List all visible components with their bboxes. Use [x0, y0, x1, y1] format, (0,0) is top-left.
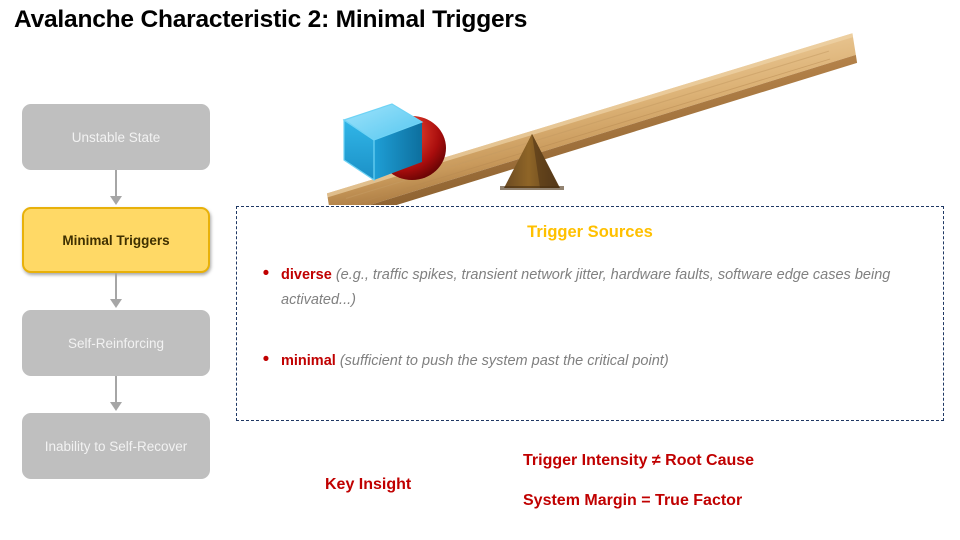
flow-step-label: Self-Reinforcing — [68, 336, 164, 351]
bullet-item-diverse: • diverse (e.g., traffic spikes, transie… — [251, 263, 929, 313]
slide-canvas: Avalanche Characteristic 2: Minimal Trig… — [0, 0, 960, 540]
arrow-head — [110, 402, 122, 411]
flow-step-minimal-triggers[interactable]: Minimal Triggers — [22, 207, 210, 273]
bullet-dot-icon: • — [251, 349, 281, 370]
trigger-sources-panel: Trigger Sources • diverse (e.g., traffic… — [236, 206, 944, 421]
flow-arrow-3 — [22, 376, 210, 413]
conclusion-line-1: Trigger Intensity ≠ Root Cause — [523, 452, 943, 470]
conclusion-line-2: System Margin = True Factor — [523, 492, 943, 510]
arrow-shaft — [115, 376, 117, 404]
conclusion-block: Trigger Intensity ≠ Root Cause System Ma… — [523, 452, 943, 532]
bullet-dot-icon: • — [251, 263, 281, 284]
flow-step-self-reinforcing[interactable]: Self-Reinforcing — [22, 310, 210, 376]
bullet-keyword: diverse — [281, 267, 332, 283]
key-insight-label: Key Insight — [325, 476, 411, 494]
flow-step-unstable-state[interactable]: Unstable State — [22, 104, 210, 170]
flow-arrow-1 — [22, 170, 210, 207]
seesaw-illustration — [300, 30, 900, 205]
panel-title: Trigger Sources — [237, 223, 943, 242]
bullet-detail: (e.g., traffic spikes, transient network… — [281, 267, 890, 308]
flow-step-label: Minimal Triggers — [62, 233, 169, 248]
flow-arrow-2 — [22, 273, 210, 310]
flow-step-label: Inability to Self-Recover — [45, 439, 188, 454]
arrow-shaft — [115, 273, 117, 301]
arrow-head — [110, 196, 122, 205]
arrow-head — [110, 299, 122, 308]
bullet-detail: (sufficient to push the system past the … — [340, 353, 669, 369]
process-flow: Unstable State Minimal Triggers Self-Rei… — [22, 104, 212, 479]
bullet-keyword: minimal — [281, 353, 336, 369]
flow-step-label: Unstable State — [72, 130, 161, 145]
bullet-item-minimal: • minimal (sufficient to push the system… — [251, 349, 929, 374]
flow-step-inability-to-self-recover[interactable]: Inability to Self-Recover — [22, 413, 210, 479]
arrow-shaft — [115, 170, 117, 198]
